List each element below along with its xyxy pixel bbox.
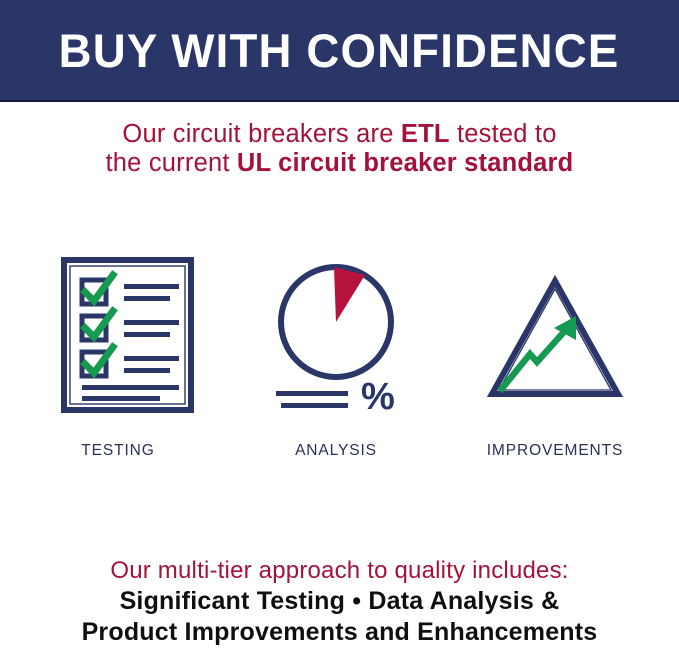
- header-banner: BUY WITH CONFIDENCE: [0, 0, 679, 102]
- icon-label-analysis: ANALYSIS: [223, 442, 449, 460]
- page-title: BUY WITH CONFIDENCE: [59, 27, 620, 74]
- svg-text:%: %: [361, 376, 395, 413]
- subtitle-text-d: the current: [106, 149, 237, 177]
- subtitle-emphasis-ul-standard: UL circuit breaker standard: [237, 149, 574, 177]
- pie-chart-icon: %: [223, 248, 449, 413]
- subtitle-text-c: tested to: [450, 120, 557, 148]
- feature-improvements: IMPROVEMENTS: [442, 248, 668, 478]
- feature-analysis: % ANALYSIS: [223, 248, 449, 478]
- icon-row: TESTING % ANALYSIS: [0, 248, 679, 478]
- subtitle-emphasis-etl: ETL: [401, 120, 450, 148]
- footer-line-2: Significant Testing • Data Analysis &: [0, 586, 679, 617]
- icon-label-improvements: IMPROVEMENTS: [442, 442, 668, 460]
- subtitle-line-2: the current UL circuit breaker standard: [0, 149, 679, 178]
- footer-block: Our multi-tier approach to quality inclu…: [0, 556, 679, 648]
- subtitle-text-a: Our circuit breakers are: [122, 120, 401, 148]
- icon-label-testing: TESTING: [5, 442, 231, 460]
- footer-line-3: Product Improvements and Enhancements: [0, 617, 679, 648]
- subtitle-block: Our circuit breakers are ETL tested to t…: [0, 120, 679, 178]
- subtitle-line-1: Our circuit breakers are ETL tested to: [0, 120, 679, 149]
- feature-testing: TESTING: [5, 248, 231, 478]
- growth-triangle-icon: [442, 248, 668, 413]
- footer-lead-text: Our multi-tier approach to quality inclu…: [0, 556, 679, 586]
- checklist-icon: [5, 248, 231, 413]
